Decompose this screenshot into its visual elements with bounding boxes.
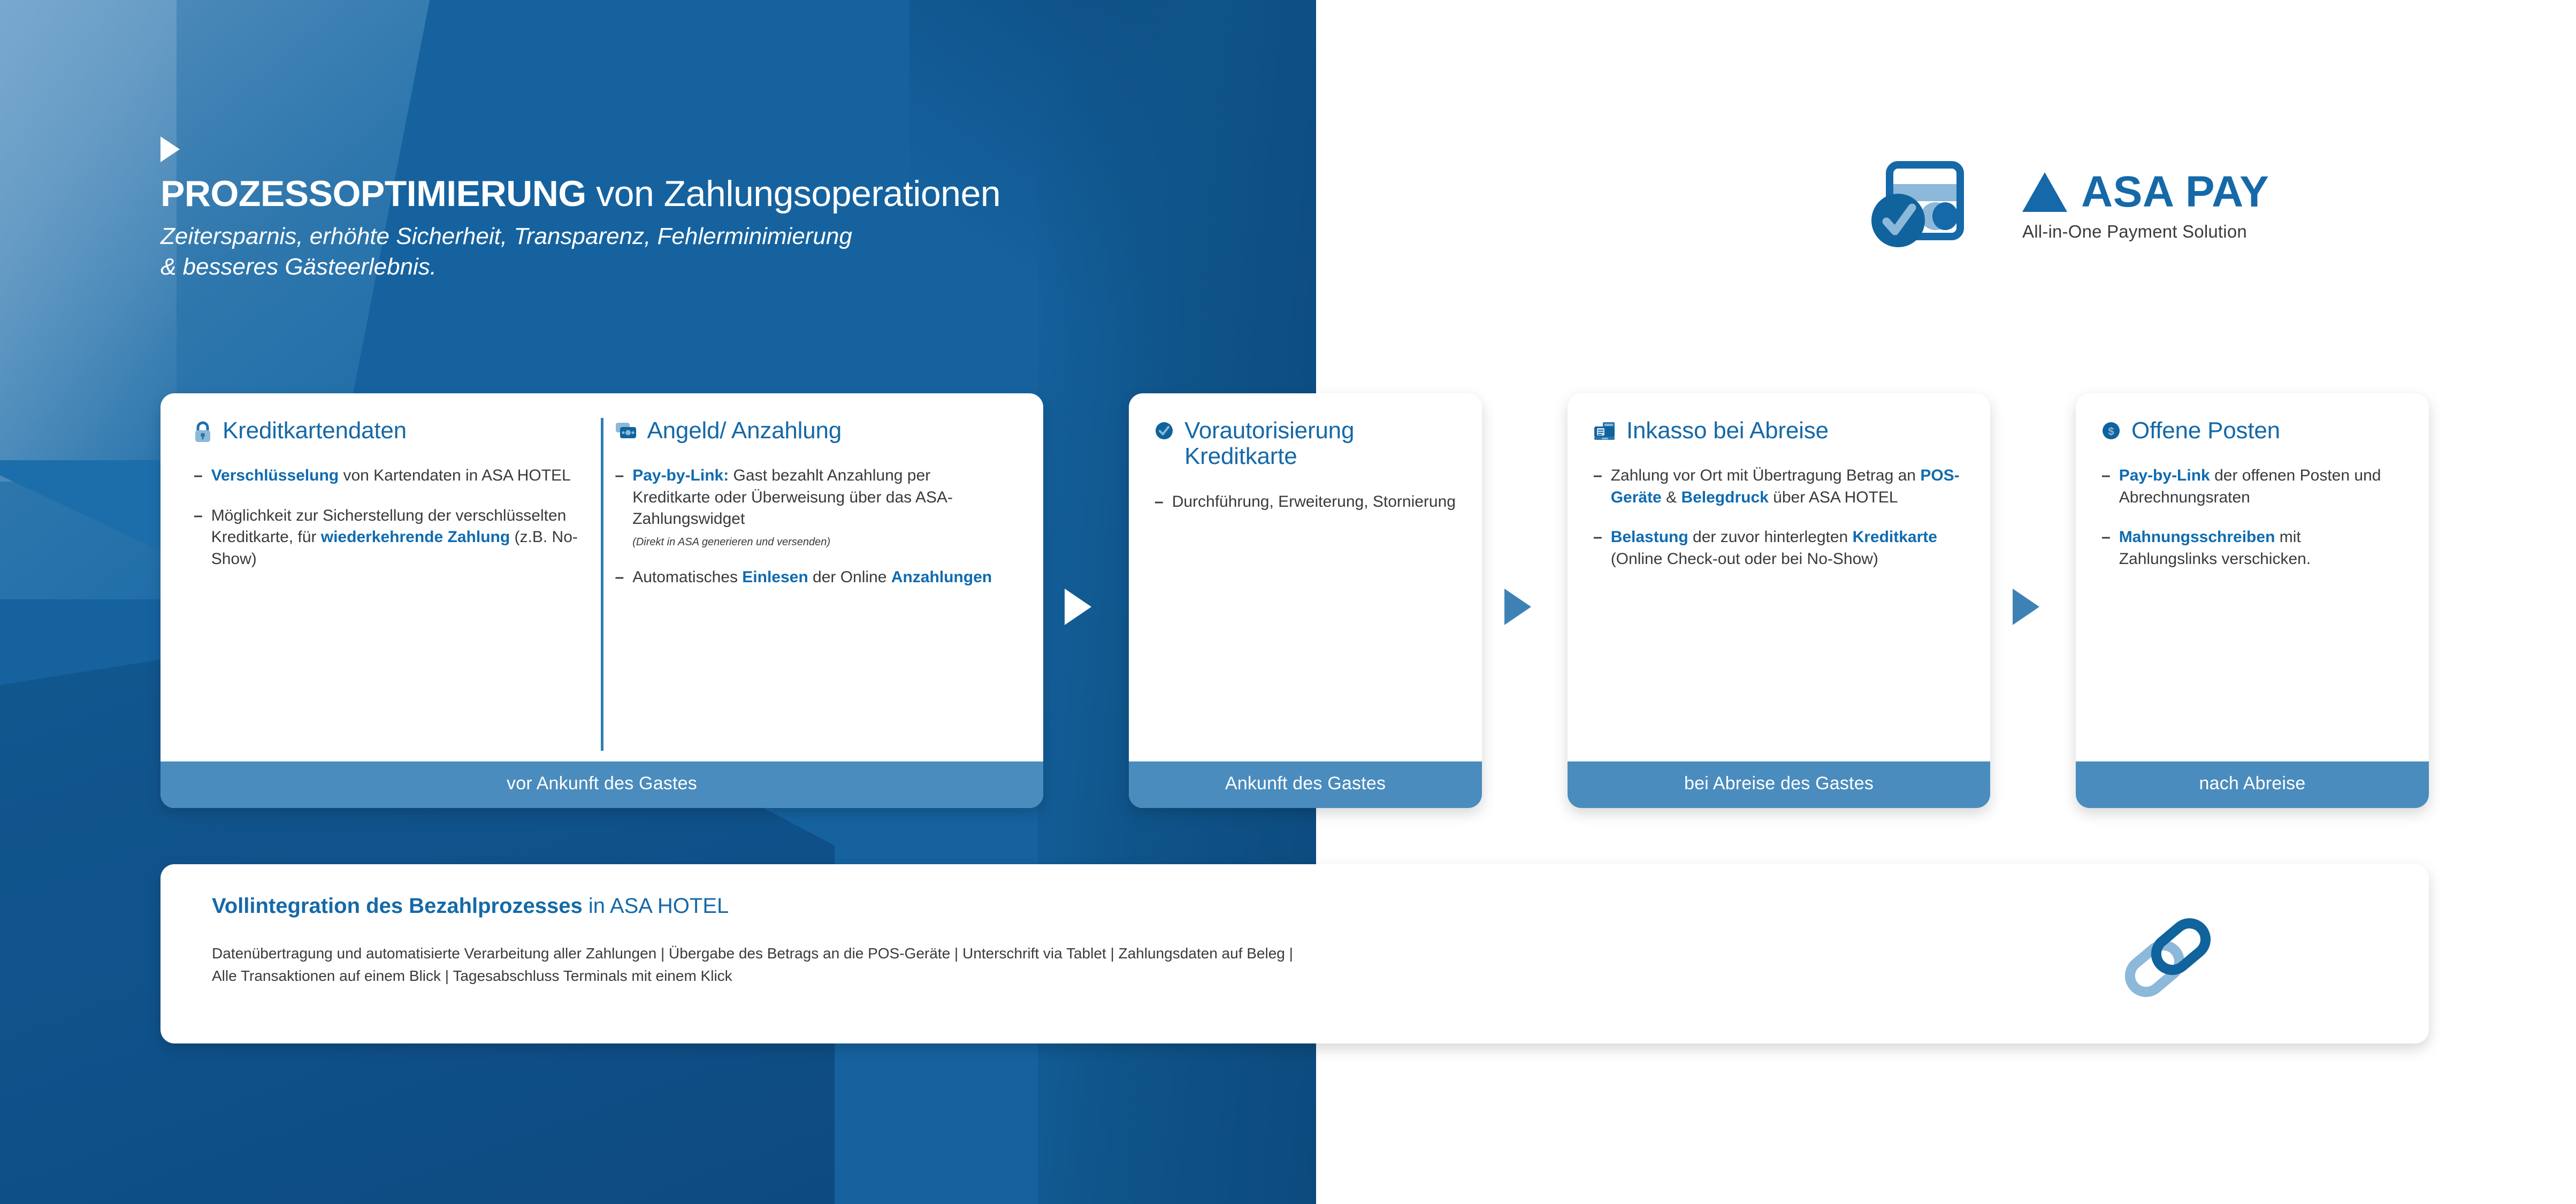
bullet-dash: – xyxy=(1593,527,1602,570)
list-item: – Belastung der zuvor hinterlegten Kredi… xyxy=(1593,527,1965,570)
chain-link-icon xyxy=(2119,912,2220,1001)
infographic-canvas: PROZESSOPTIMIERUNG von Zahlungsoperation… xyxy=(0,0,2576,1204)
triangle-right-icon xyxy=(160,136,180,162)
bullet-span: der zuvor hinterlegten xyxy=(1688,528,1853,546)
bullet-list: – Verschlüsselung von Kartendaten in ASA… xyxy=(194,465,589,570)
bullet-text: Automatisches Einlesen der Online Anzahl… xyxy=(632,567,1010,589)
bullet-span-bold: Belastung xyxy=(1611,528,1688,546)
bullet-dash: – xyxy=(194,505,203,570)
page-subtitle: Zeitersparnis, erhöhte Sicherheit, Trans… xyxy=(160,222,1337,282)
bullet-span-bold: Einlesen xyxy=(742,568,808,586)
payment-card-check-icon xyxy=(1867,161,1974,252)
bullet-list: – Durchführung, Erweiterung, Stornierung xyxy=(1155,491,1456,513)
bullet-note: (Direkt in ASA generieren und versenden) xyxy=(632,536,1010,548)
list-item: – Pay-by-Link: Gast bezahlt Anzahlung pe… xyxy=(615,465,1011,548)
column-header: Vorautorisierung Kreditkarte xyxy=(1155,418,1456,470)
bullet-list: – Pay-by-Link: Gast bezahlt Anzahlung pe… xyxy=(615,465,1011,588)
bullet-span-bold: Anzahlungen xyxy=(891,568,992,586)
column-header: Angeld/ Anzahlung xyxy=(615,418,1011,444)
page-subtitle-line2: & besseres Gästeerlebnis. xyxy=(160,252,1337,282)
footer-line-2: Alle Transaktionen auf einem Blick | Tag… xyxy=(212,965,2395,987)
arrow-card2-to-card3-icon xyxy=(1504,589,1531,625)
bullet-span: der Online xyxy=(808,568,891,586)
bullet-list: – Zahlung vor Ort mit Übertragung Betrag… xyxy=(1593,465,1965,570)
list-item: – Automatisches Einlesen der Online Anza… xyxy=(615,567,1011,589)
page-subtitle-line1: Zeitersparnis, erhöhte Sicherheit, Trans… xyxy=(160,222,1337,252)
bullet-dash: – xyxy=(194,465,203,487)
card-body: $ Offene Posten – Pay-by-Link der offene… xyxy=(2076,393,2429,761)
bullet-text: Zahlung vor Ort mit Übertragung Betrag a… xyxy=(1611,465,1965,508)
list-item: – Verschlüsselung von Kartendaten in ASA… xyxy=(194,465,589,487)
bullet-span-bold: Belegdruck xyxy=(1681,489,1768,506)
bullet-span-bold: Pay-by-Link xyxy=(2119,467,2210,484)
column-title: Vorautorisierung Kreditkarte xyxy=(1184,418,1456,470)
card-footer-label: nach Abreise xyxy=(2076,761,2429,808)
list-item: – Zahlung vor Ort mit Übertragung Betrag… xyxy=(1593,465,1965,508)
bullet-dash: – xyxy=(1155,491,1164,513)
asa-pay-logo: ASA PAY All-in-One Payment Solution xyxy=(1867,161,2269,252)
bullet-span-bold: Pay-by-Link: xyxy=(632,467,729,484)
card-vorautorisierung: Vorautorisierung Kreditkarte – Durchführ… xyxy=(1129,393,1482,808)
card-footer-label: Ankunft des Gastes xyxy=(1129,761,1482,808)
bullet-span: (Online Check-out oder bei No-Show) xyxy=(1611,550,1878,568)
card-footer-label: vor Ankunft des Gastes xyxy=(160,761,1043,808)
bullet-text: Pay-by-Link der offenen Posten und Abrec… xyxy=(2119,465,2403,508)
check-circle-icon xyxy=(1155,421,1174,440)
bullet-text: Verschlüsselung von Kartendaten in ASA H… xyxy=(211,465,589,487)
bullet-span: von Kartendaten in ASA HOTEL xyxy=(339,467,571,484)
column-offene-posten: $ Offene Posten – Pay-by-Link der offene… xyxy=(2090,418,2415,751)
card-vollintegration: Vollintegration des Bezahlprozesses in A… xyxy=(160,864,2429,1043)
bullet-text: Pay-by-Link: Gast bezahlt Anzahlung per … xyxy=(632,465,1010,548)
arrow-card1-to-card2-icon xyxy=(1065,589,1091,625)
bullet-span: Zahlung vor Ort mit Übertragung Betrag a… xyxy=(1611,467,1921,484)
bullet-text: Möglichkeit zur Sicherstellung der versc… xyxy=(211,505,589,570)
column-inkasso: Inkasso bei Abreise – Zahlung vor Ort mi… xyxy=(1581,418,1976,751)
logo-tagline: All-in-One Payment Solution xyxy=(2022,222,2247,242)
column-header: $ Offene Posten xyxy=(2101,418,2403,444)
footer-card-title: Vollintegration des Bezahlprozesses in A… xyxy=(212,894,2395,918)
list-item: – Durchführung, Erweiterung, Stornierung xyxy=(1155,491,1456,513)
column-title: Angeld/ Anzahlung xyxy=(647,418,842,444)
page-title-regular: von Zahlungsoperationen xyxy=(586,173,1000,214)
bullet-span: & xyxy=(1662,489,1681,506)
bullet-span-bold: Kreditkarte xyxy=(1853,528,1937,546)
card-body: Kreditkartendaten – Verschlüsselung von … xyxy=(160,393,1043,761)
arrow-card3-to-card4-icon xyxy=(2013,589,2039,625)
footer-line-1: Datenübertragung und automatisierte Vera… xyxy=(212,942,2395,965)
padlock-icon xyxy=(194,421,212,444)
column-title: Offene Posten xyxy=(2131,418,2280,444)
bullet-text: Durchführung, Erweiterung, Stornierung xyxy=(1172,491,1456,513)
bullet-text: Mahnungsschreiben mit Zahlungslinks vers… xyxy=(2119,527,2403,570)
page-title: PROZESSOPTIMIERUNG von Zahlungsoperation… xyxy=(160,175,1337,213)
column-header: Inkasso bei Abreise xyxy=(1593,418,1965,444)
footer-card-lines: Datenübertragung und automatisierte Vera… xyxy=(212,942,2395,987)
list-item: – Mahnungsschreiben mit Zahlungslinks ve… xyxy=(2101,527,2403,570)
bullet-text: Belastung der zuvor hinterlegten Kreditk… xyxy=(1611,527,1965,570)
process-cards-row: Kreditkartendaten – Verschlüsselung von … xyxy=(0,393,2576,808)
bullet-span-bold: wiederkehrende Zahlung xyxy=(321,528,510,546)
bullet-dash: – xyxy=(1593,465,1602,508)
column-title: Kreditkartendaten xyxy=(223,418,407,444)
bullet-span-bold: Verschlüsselung xyxy=(211,467,339,484)
card-footer-label: bei Abreise des Gastes xyxy=(1568,761,1990,808)
card-body: Inkasso bei Abreise – Zahlung vor Ort mi… xyxy=(1568,393,1990,761)
logo-name: ASA PAY xyxy=(2081,170,2269,214)
column-header: Kreditkartendaten xyxy=(194,418,589,444)
card-offene-posten: $ Offene Posten – Pay-by-Link der offene… xyxy=(2076,393,2429,808)
list-item: – Möglichkeit zur Sicherstellung der ver… xyxy=(194,505,589,570)
bullet-dash: – xyxy=(615,567,624,589)
column-title: Inkasso bei Abreise xyxy=(1626,418,1829,444)
triangle-up-icon xyxy=(2022,172,2067,212)
page-title-strong: PROZESSOPTIMIERUNG xyxy=(160,173,586,214)
header: PROZESSOPTIMIERUNG von Zahlungsoperation… xyxy=(160,136,1337,282)
column-kreditkartendaten: Kreditkartendaten – Verschlüsselung von … xyxy=(182,418,601,751)
footer-title-regular: in ASA HOTEL xyxy=(583,894,729,918)
svg-text:$: $ xyxy=(2108,426,2114,438)
bullet-dash: – xyxy=(615,465,624,548)
footer-title-strong: Vollintegration des Bezahlprozesses xyxy=(212,894,583,918)
list-item: – Pay-by-Link der offenen Posten und Abr… xyxy=(2101,465,2403,508)
card-body: Vorautorisierung Kreditkarte – Durchführ… xyxy=(1129,393,1482,761)
banknotes-icon xyxy=(615,421,637,440)
bullet-span-bold: Mahnungsschreiben xyxy=(2119,528,2275,546)
bullet-list: – Pay-by-Link der offenen Posten und Abr… xyxy=(2101,465,2403,570)
column-angeld-anzahlung: Angeld/ Anzahlung – Pay-by-Link: Gast be… xyxy=(601,418,1022,751)
bullet-dash: – xyxy=(2101,527,2111,570)
logo-text: ASA PAY All-in-One Payment Solution xyxy=(2022,170,2269,242)
bullet-dash: – xyxy=(2101,465,2111,508)
column-vorautorisierung: Vorautorisierung Kreditkarte – Durchführ… xyxy=(1143,418,1468,751)
bullet-span: über ASA HOTEL xyxy=(1769,489,1898,506)
pos-terminal-icon xyxy=(1593,421,1616,441)
card-inkasso-bei-abreise: Inkasso bei Abreise – Zahlung vor Ort mi… xyxy=(1568,393,1990,808)
bullet-span: Automatisches xyxy=(632,568,742,586)
card-kreditkartendaten-angeld: Kreditkartendaten – Verschlüsselung von … xyxy=(160,393,1043,808)
dollar-circle-icon: $ xyxy=(2101,421,2121,440)
